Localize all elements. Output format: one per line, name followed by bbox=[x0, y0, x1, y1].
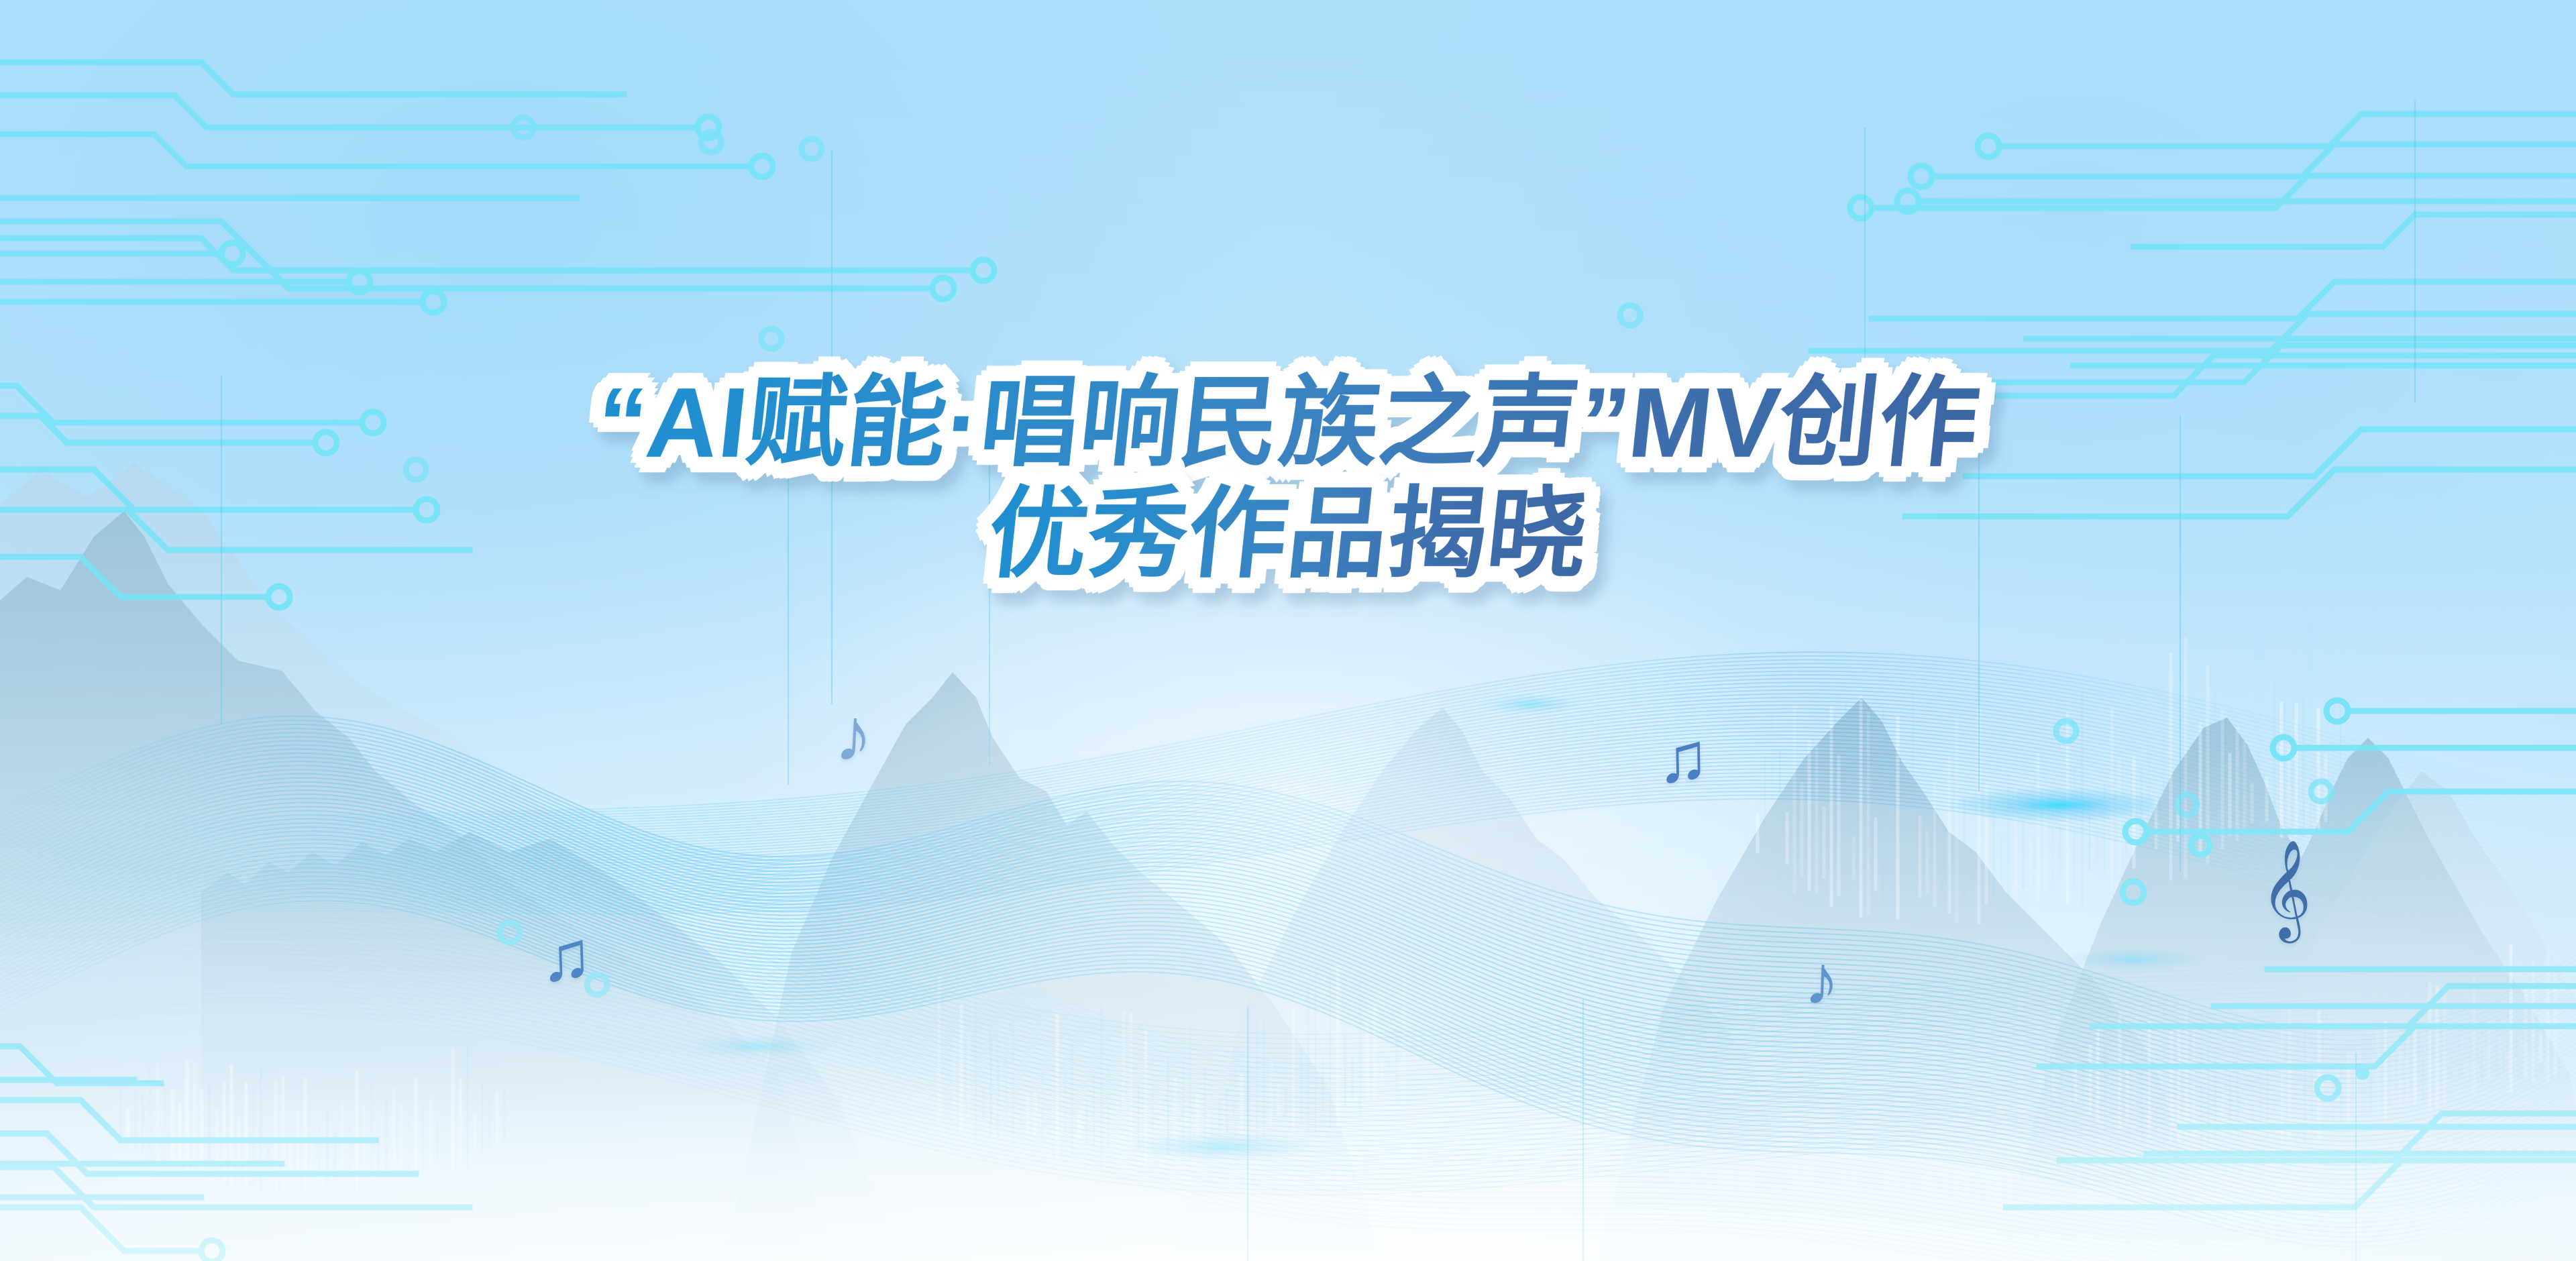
equalizer-bars-layer bbox=[0, 0, 2576, 1261]
eighth-note-icon: ♪ bbox=[833, 697, 875, 774]
bottom-fade bbox=[0, 757, 2576, 1261]
wave-glow-4 bbox=[2059, 947, 2207, 971]
wave-glow-2 bbox=[1120, 1132, 1322, 1162]
page-title-line-2: 优秀作品揭晓 bbox=[983, 477, 1593, 592]
eighth-note-icon: ♪ bbox=[1803, 945, 1841, 1016]
beamed-eighth-notes-icon: ♫ bbox=[1656, 722, 1710, 793]
mountain-left-main bbox=[0, 511, 832, 1261]
circuit-traces-layer bbox=[0, 0, 2576, 1261]
center-white-haze bbox=[515, 353, 2061, 1236]
wave-glow-3 bbox=[678, 1033, 839, 1060]
banner-title-block: “AI赋能·唱响民族之声”MV创作 优秀作品揭晓 bbox=[0, 366, 2576, 592]
top-right-tint bbox=[902, 0, 2576, 946]
mountain-left-jagged bbox=[201, 832, 899, 1261]
wave-glow-1 bbox=[1945, 787, 2173, 822]
mountain-center-left bbox=[724, 672, 1382, 1261]
ai-mv-contest-banner: ♫ ♪ ♫ ♪ 𝄞 “AI赋能·唱响民族之声”MV创作 优秀作品揭晓 bbox=[0, 0, 2576, 1261]
mountain-left-far bbox=[0, 463, 805, 1261]
page-title-line-1: “AI赋能·唱响民族之声”MV创作 bbox=[591, 366, 1985, 481]
top-left-tint bbox=[0, 0, 1674, 946]
title-line-1-wrap: “AI赋能·唱响民族之声”MV创作 bbox=[0, 366, 2576, 481]
mountain-center bbox=[1174, 708, 1811, 1261]
title-line-2-wrap: 优秀作品揭晓 bbox=[0, 477, 2576, 592]
wave-glow-5 bbox=[1476, 694, 1583, 715]
mountain-right-main bbox=[1999, 718, 2576, 1261]
mountain-right-far bbox=[2214, 771, 2576, 1261]
mountain-center-right bbox=[1597, 698, 2214, 1261]
treble-clef-icon: 𝄞 bbox=[2261, 846, 2312, 932]
beamed-eighth-notes-icon: ♫ bbox=[539, 921, 594, 993]
sound-wave-ribbon-layer bbox=[0, 0, 2576, 1261]
mountain-silhouette-layer bbox=[0, 0, 2576, 1261]
